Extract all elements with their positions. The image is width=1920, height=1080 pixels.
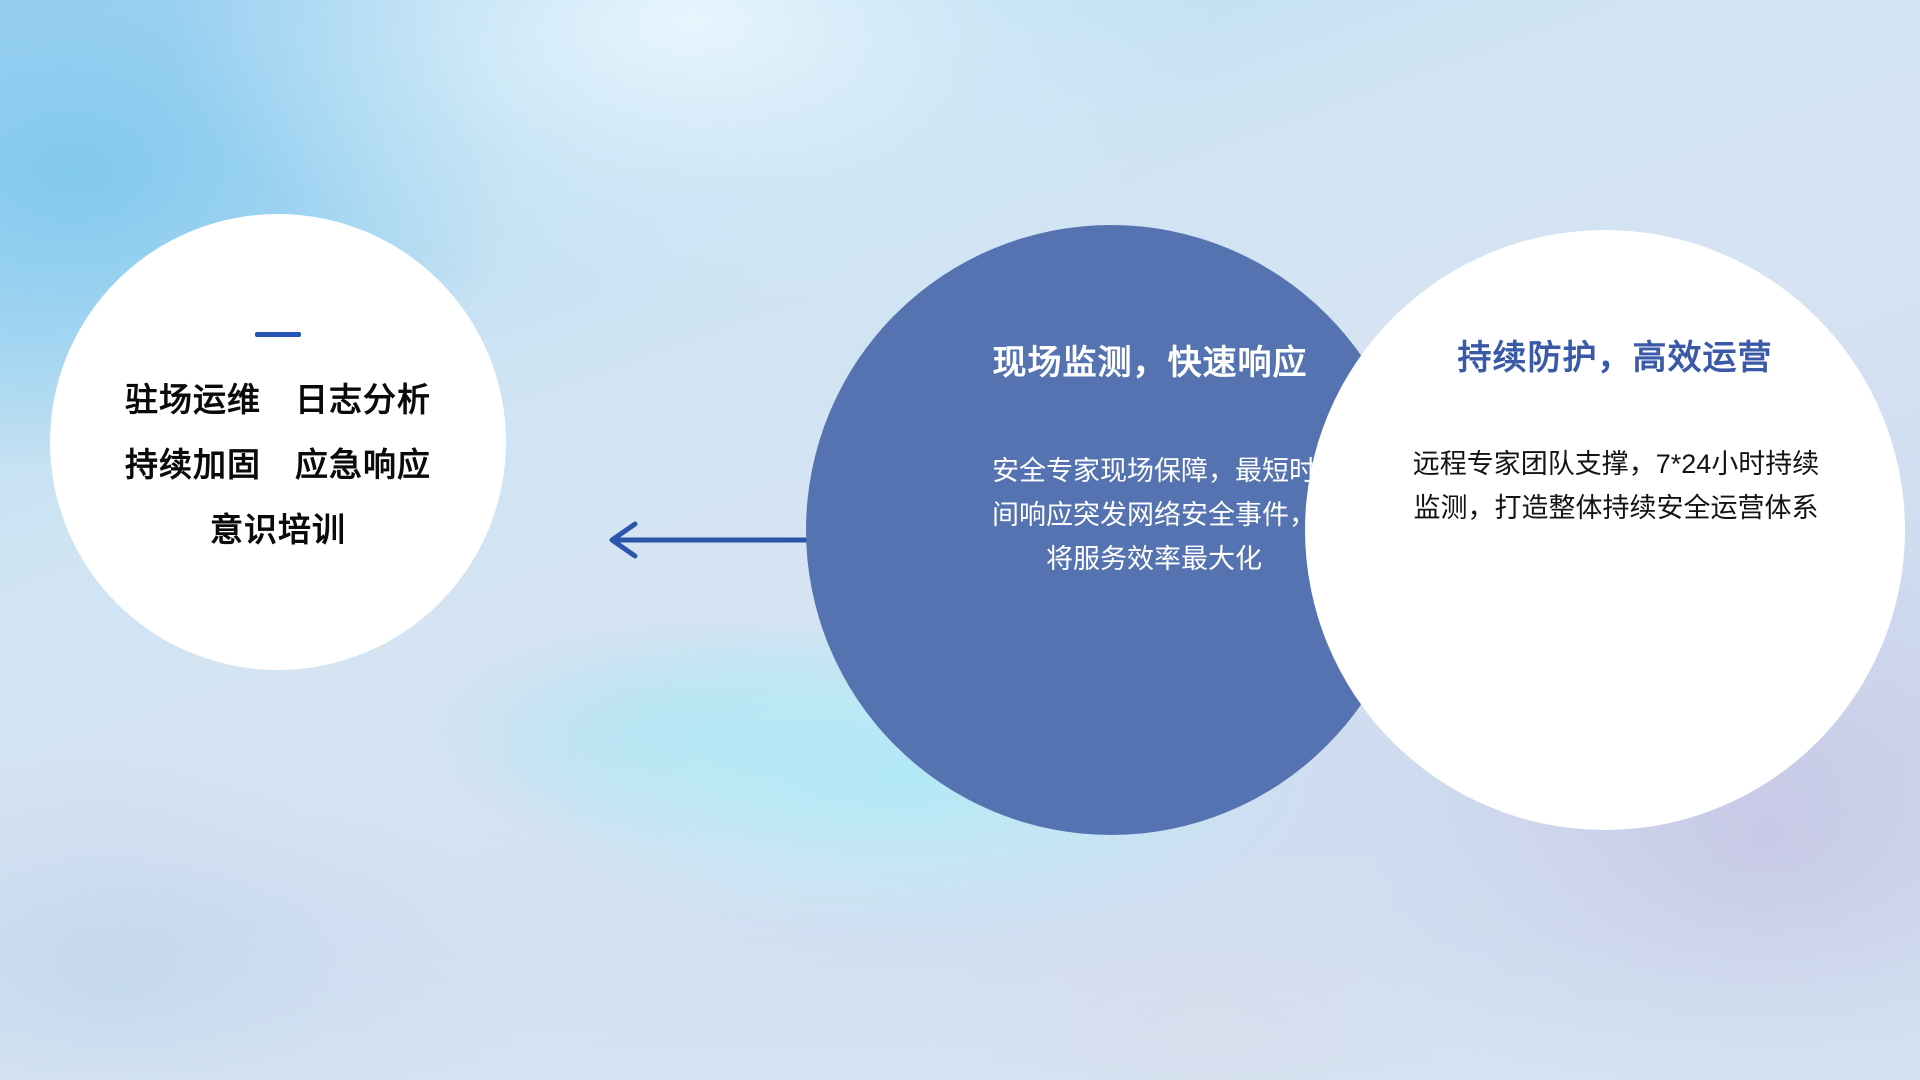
left-circle-line-2: 持续加固 应急响应 (125, 448, 431, 481)
right-circle-title: 持续防护，高效运营 (1458, 340, 1773, 377)
right-circle-content: 持续防护，高效运营 远程专家团队支撑，7*24小时持续监测，打造整体持续安全运营… (1305, 230, 1905, 830)
right-circle-card[interactable]: 持续防护，高效运营 远程专家团队支撑，7*24小时持续监测，打造整体持续安全运营… (1305, 230, 1905, 830)
left-circle-content: 驻场运维 日志分析 持续加固 应急响应 意识培训 (50, 214, 506, 670)
left-circle-card[interactable]: 驻场运维 日志分析 持续加固 应急响应 意识培训 (50, 214, 506, 670)
left-circle-line-1: 驻场运维 日志分析 (125, 383, 431, 416)
middle-circle-body: 安全专家现场保障，最短时间响应突发网络安全事件，将服务效率最大化 (989, 450, 1319, 581)
left-circle-line-3: 意识培训 (210, 513, 346, 546)
dash-divider-icon (255, 332, 301, 337)
slide-canvas: 现场监测，快速响应 安全专家现场保障，最短时间响应突发网络安全事件，将服务效率最… (0, 0, 1920, 1080)
right-circle-body: 远程专家团队支撑，7*24小时持续监测，打造整体持续安全运营体系 (1406, 443, 1826, 530)
middle-circle-title: 现场监测，快速响应 (993, 345, 1308, 382)
